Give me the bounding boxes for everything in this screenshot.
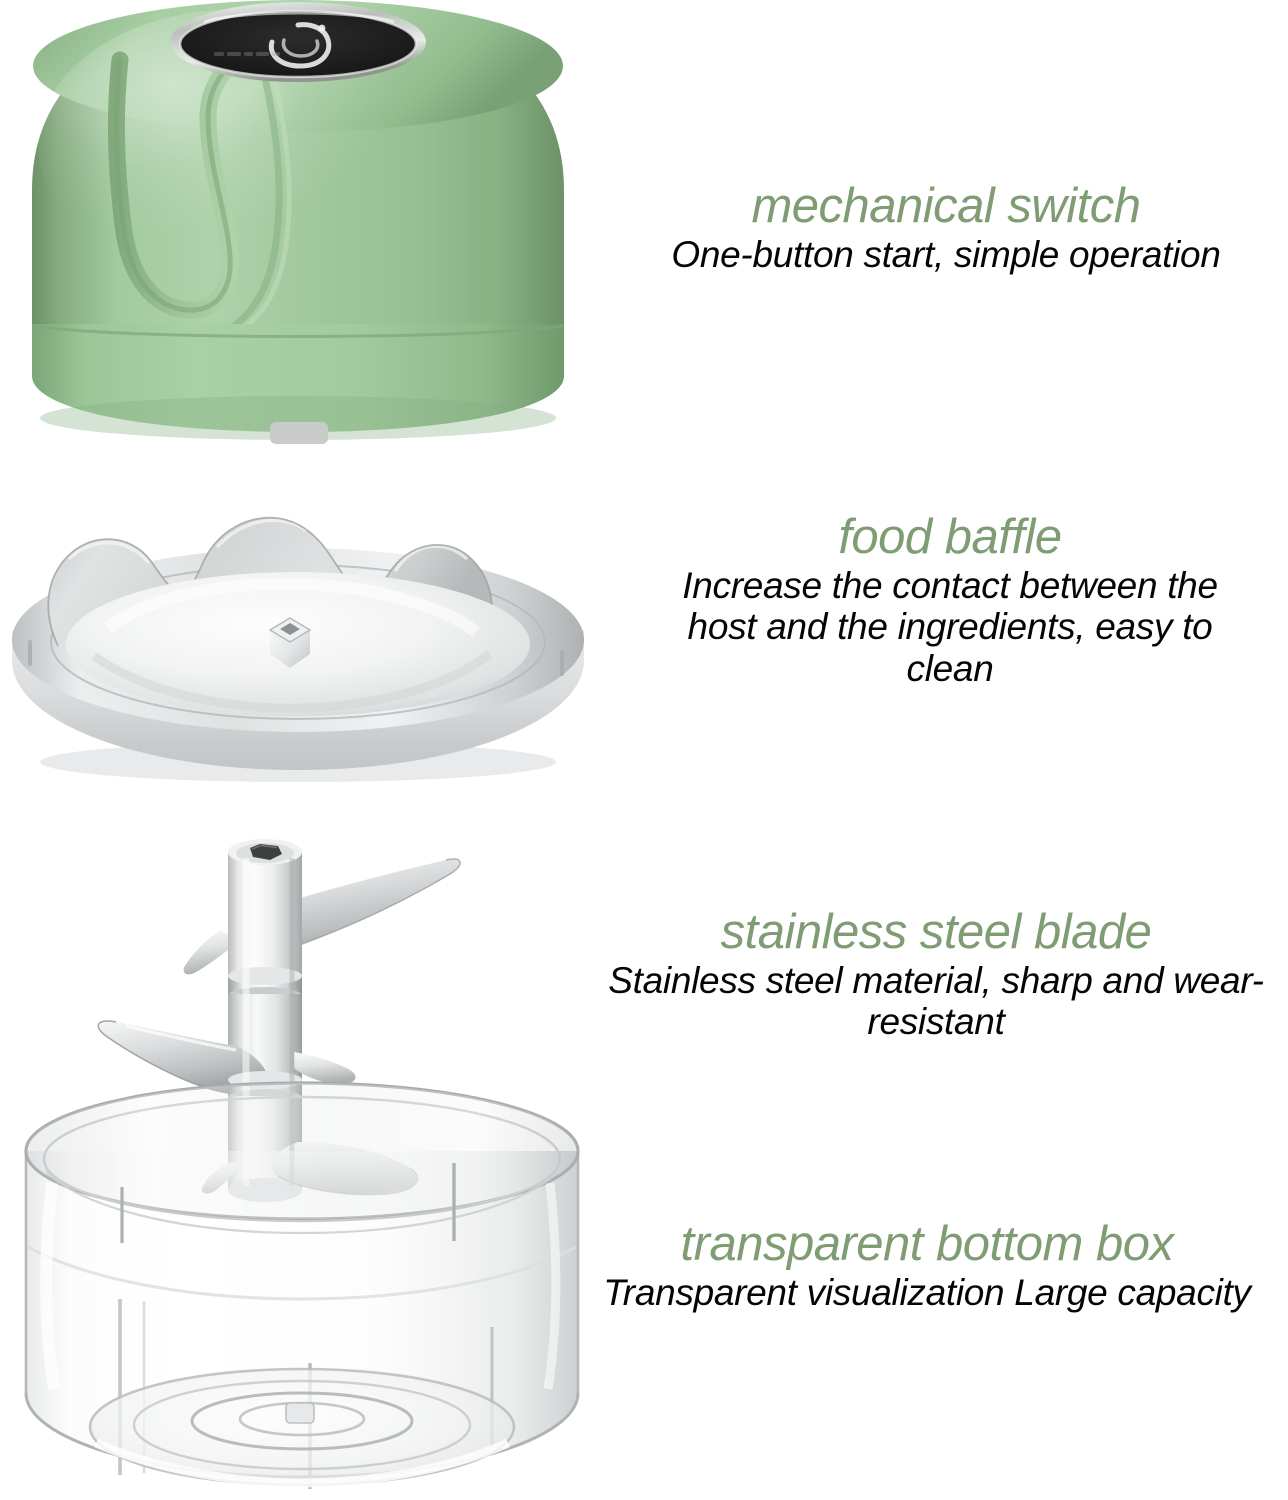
callout-food-baffle: food baffle Increase the contact between… <box>650 513 1250 689</box>
transparent-bowl-image <box>10 1075 595 1495</box>
callout-stainless-steel-blade: stainless steel blade Stainless steel ma… <box>596 908 1276 1043</box>
baffle-notch-left <box>28 640 32 666</box>
bowl-rim-band <box>26 1083 578 1219</box>
callout-heading: stainless steel blade <box>596 908 1276 958</box>
callout-body: Stainless steel material, sharp and wear… <box>596 960 1276 1043</box>
callout-heading: transparent bottom box <box>566 1220 1288 1270</box>
callout-transparent-bottom-box: transparent bottom box Transparent visua… <box>566 1220 1288 1313</box>
food-baffle-image <box>0 432 598 792</box>
callout-body: Transparent visualization Large capacity <box>566 1272 1288 1313</box>
motor-lid-image <box>8 0 588 444</box>
baffle-notch-right <box>560 650 564 676</box>
bowl-base-hub <box>286 1403 314 1423</box>
baffle-bottom-shade <box>40 742 556 782</box>
callout-body: Increase the contact between the host an… <box>650 565 1250 689</box>
callout-heading: food baffle <box>650 513 1250 563</box>
callout-mechanical-switch: mechanical switch One-button start, simp… <box>616 182 1276 275</box>
infographic-canvas: mechanical switch One-button start, simp… <box>0 0 1288 1500</box>
callout-body: One-button start, simple operation <box>616 234 1276 275</box>
callout-heading: mechanical switch <box>616 182 1276 232</box>
